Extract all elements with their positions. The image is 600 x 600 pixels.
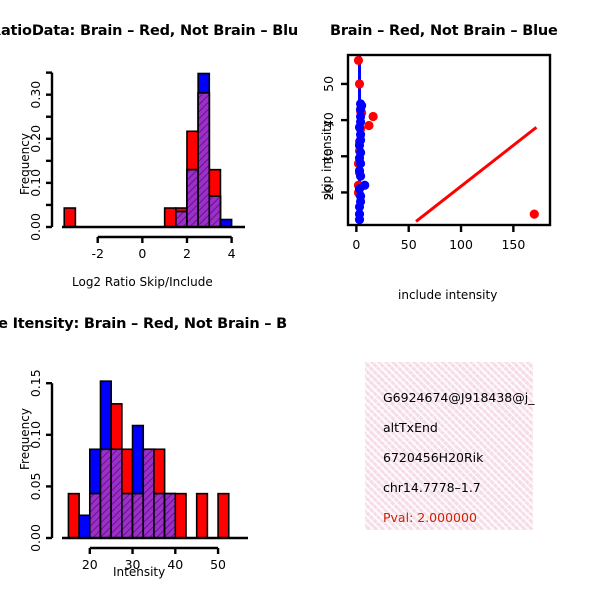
scatter-point [364,121,373,130]
hist-bar-overlap [111,449,122,538]
hist-bar-overlap [198,93,209,227]
y-tick-label: 0.00 [28,524,43,552]
ratio-hist-xlabel: Log2 Ratio Skip/Include [72,275,213,289]
x-tick-label: 20 [82,557,98,572]
hist-bar-overlap [154,494,165,538]
y-tick-label: 0.00 [28,213,43,241]
scatter-point [530,210,539,219]
hist-bar-red [197,494,208,538]
info-locus: chr14.7778–1.7 [383,480,481,495]
x-tick-label: 50 [210,557,226,572]
hist-bar-overlap [209,196,220,227]
hist-bar-red [68,494,79,538]
info-pvalue: Pval: 2.000000 [383,510,477,525]
x-tick-label: 0 [138,246,146,261]
scatter-point [355,79,364,88]
scatter-point [356,172,365,181]
hist-bar-overlap [90,494,101,538]
hist-bar-red [218,494,229,538]
hist-bar-overlap [122,494,133,538]
info-gene-symbol: 6720456H20Rik [383,450,483,465]
x-tick-label: 4 [228,246,236,261]
panel-intensity-histogram: ne Itensity: Brain – Red, Not Brain – B … [0,310,300,600]
x-tick-label: 50 [401,237,417,252]
intensity-hist-ylabel: Frequency [18,408,32,470]
ratio-hist-title: RatioData: Brain – Red, Not Brain – Blu [0,23,298,39]
panel-intensity-scatter: Brain – Red, Not Brain – Blue 2030405005… [300,20,600,320]
x-tick-label: 40 [167,557,183,572]
y-tick-label: 0.15 [28,369,43,397]
x-tick-label: 2 [183,246,191,261]
y-tick-label: 50 [321,76,336,92]
scatter-point [369,112,378,121]
scatter-point [354,56,363,65]
x-tick-label: 0 [352,237,360,252]
panel-ratio-histogram: RatioData: Brain – Red, Not Brain – Blu … [0,20,300,320]
info-event-type: altTxEnd [383,420,438,435]
scatter-ylabel: skip intensity [320,120,334,200]
hist-bar-overlap [187,170,198,227]
x-tick-label: 150 [501,237,525,252]
intensity-hist-xlabel: Intensity [113,565,165,579]
hist-bar-red [64,208,75,227]
scatter-title: Brain – Red, Not Brain – Blue [330,23,558,39]
hist-bar-overlap [143,449,154,538]
hist-bar-red [175,494,186,538]
identity-line-red [416,127,536,221]
hist-bar-overlap [100,449,111,538]
y-tick-label: 0.30 [28,81,43,109]
info-event-id: G6924674@J918438@j_ [383,390,534,405]
hist-bar-red [165,208,176,227]
hist-bar-overlap [176,212,187,227]
x-tick-label: 100 [449,237,473,252]
intensity-hist-plot: 0.000.050.100.1520304050 [0,340,300,590]
ratio-hist-ylabel: Frequency [18,133,32,195]
scatter-plot: 20304050050100150 [300,20,600,320]
intensity-hist-title: ne Itensity: Brain – Red, Not Brain – B [0,316,287,332]
event-info-panel: G6924674@J918438@j_altTxEnd6720456H20Rik… [365,362,533,530]
hist-bar-blue [79,515,90,538]
scatter-point [355,215,364,224]
y-tick-label: 0.05 [28,472,43,500]
hist-bar-overlap [165,494,176,538]
hist-bar-overlap [133,494,144,538]
x-tick-label: -2 [91,246,103,261]
scatter-xlabel: include intensity [398,288,497,302]
